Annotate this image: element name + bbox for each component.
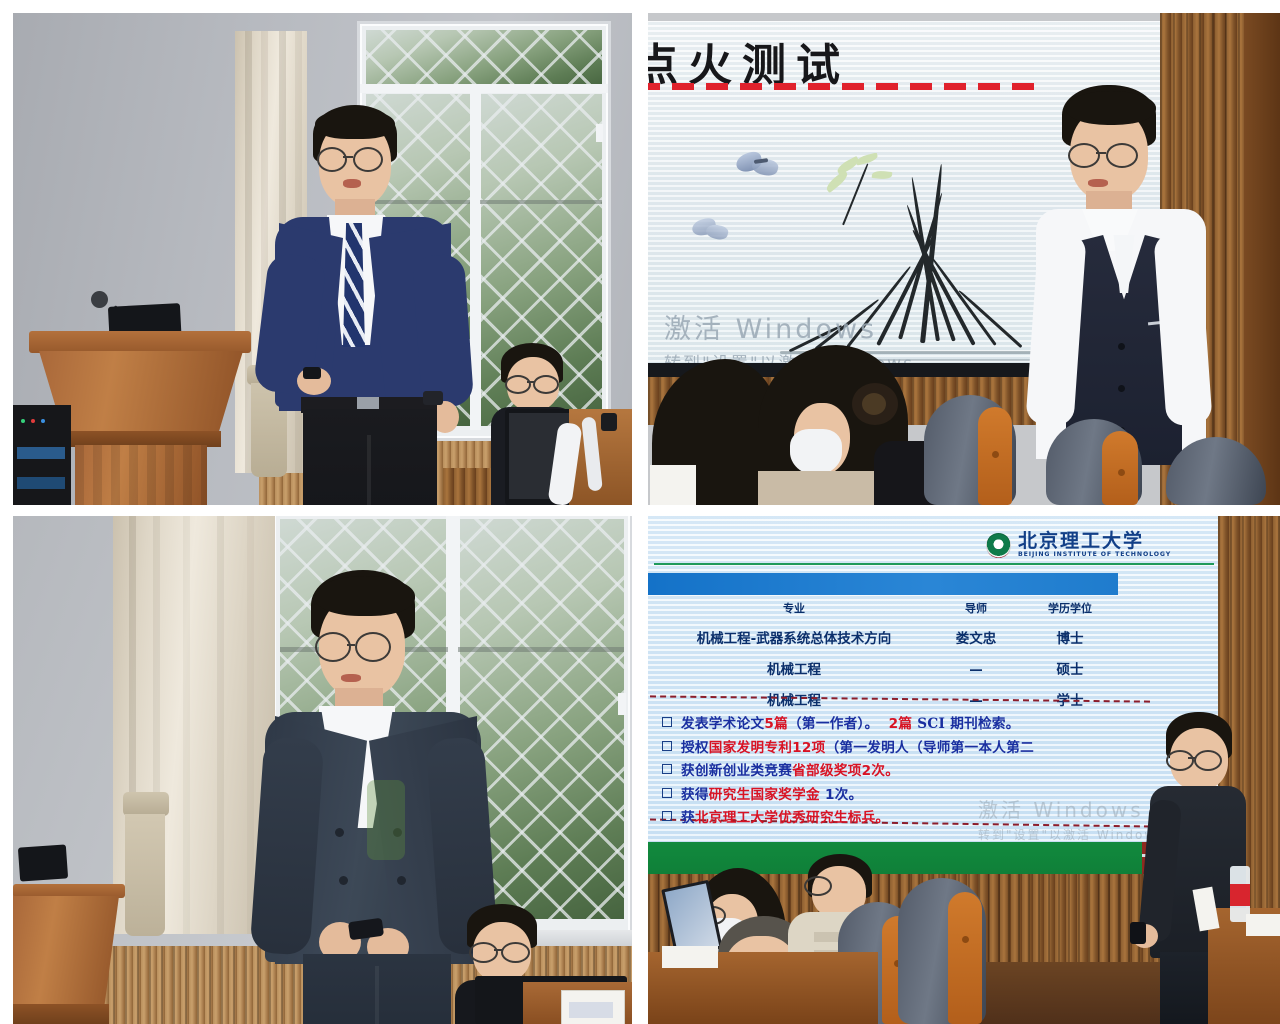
col-header-degree: 学历学位 bbox=[1022, 600, 1118, 616]
panel-bottom-left bbox=[13, 516, 632, 1024]
chair bbox=[924, 395, 1016, 505]
checkbox-icon bbox=[662, 788, 672, 798]
table-row: 机械工程-武器系统总体技术方向 娄文忠 博士 bbox=[658, 627, 1118, 647]
bullet-text-2: 授权国家发明专利12项（第一发明人（导师第一本人第二 bbox=[681, 736, 1034, 756]
document bbox=[650, 465, 696, 505]
panel-top-right: 点火测试 bbox=[648, 13, 1280, 505]
table-row: 机械工程 — 硕士 bbox=[658, 658, 1118, 678]
bullet-text-1: 发表学术论文5篇（第一作者）。 2篇 SCI 期刊检索。 bbox=[681, 712, 1020, 732]
bit-seal-icon bbox=[986, 533, 1011, 558]
checkbox-icon bbox=[662, 811, 672, 821]
col-header-major: 专业 bbox=[658, 600, 930, 616]
bullet-text-3: 获创新创业类竞赛省部级奖项2次。 bbox=[681, 759, 899, 779]
table-header-row: 专业 导师 学历学位 bbox=[658, 600, 1118, 616]
face-mask bbox=[790, 429, 842, 475]
chair bbox=[1166, 437, 1266, 505]
document bbox=[1246, 914, 1280, 936]
presentation-clicker bbox=[1130, 922, 1146, 944]
list-item: 获创新创业类竞赛省部级奖项2次。 bbox=[662, 759, 1034, 779]
photo-collage: 点火测试 bbox=[0, 0, 1280, 1024]
list-item: 授权国家发明专利12项（第一发明人（导师第一本人第二 bbox=[662, 736, 1034, 756]
bit-brand-cn: 北京理工大学 bbox=[1018, 532, 1171, 551]
list-item: 发表学术论文5篇（第一作者）。 2篇 SCI 期刊检索。 bbox=[662, 712, 1034, 732]
microphone bbox=[91, 291, 108, 308]
checkbox-icon bbox=[662, 717, 672, 727]
podium bbox=[29, 331, 251, 353]
chair bbox=[898, 878, 986, 1024]
chair bbox=[1046, 419, 1142, 505]
av-rack bbox=[13, 405, 71, 505]
bullet-text-5: 获北京理工大学优秀研究生标兵。 bbox=[681, 806, 889, 826]
podium-monitor bbox=[18, 844, 68, 881]
podium bbox=[13, 884, 125, 898]
checkbox-icon bbox=[662, 741, 672, 751]
butterfly-icon bbox=[736, 151, 782, 181]
col-header-advisor: 导师 bbox=[930, 600, 1022, 616]
divider bbox=[654, 563, 1214, 565]
panel-top-left bbox=[13, 13, 632, 505]
bit-brand-en: BEIJING INSTITUTE OF TECHNOLOGY bbox=[1018, 551, 1171, 558]
presenter-navy-suit bbox=[255, 105, 475, 505]
bullet-text-4: 获得研究生国家奖学金 1次。 bbox=[681, 783, 863, 803]
checkbox-icon bbox=[662, 764, 672, 774]
slide-blue-bar bbox=[648, 573, 1118, 595]
bit-logo: 北京理工大学 BEIJING INSTITUTE OF TECHNOLOGY bbox=[986, 532, 1171, 558]
education-table: 专业 导师 学历学位 机械工程-武器系统总体技术方向 娄文忠 博士 机械工程 —… bbox=[658, 600, 1118, 709]
projection-screen: 北京理工大学 BEIJING INSTITUTE OF TECHNOLOGY 专… bbox=[648, 516, 1218, 876]
slide-red-divider bbox=[648, 83, 1036, 90]
panel-bottom-right: 北京理工大学 BEIJING INSTITUTE OF TECHNOLOGY 专… bbox=[648, 516, 1280, 1024]
